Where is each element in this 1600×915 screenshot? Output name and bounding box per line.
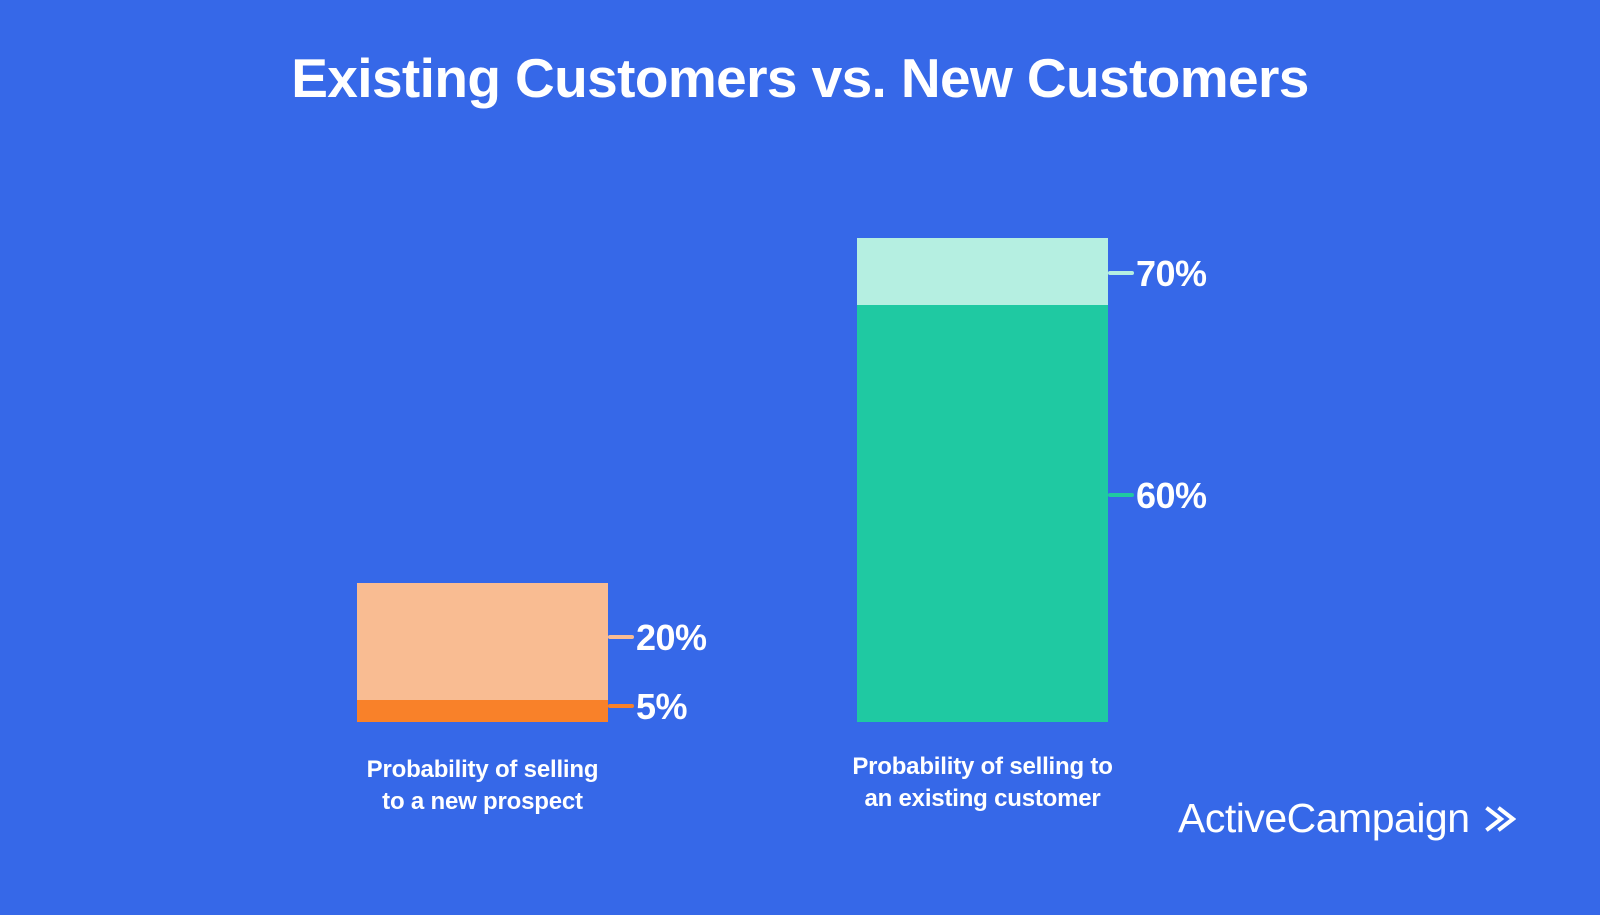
bar-caption-existing-customer-line2: an existing customer xyxy=(822,783,1143,815)
bar-existing-customer[interactable] xyxy=(857,238,1108,722)
bar-caption-existing-customer: Probability of selling to an existing cu… xyxy=(822,751,1143,816)
bar-segment-existing-customer-lower[interactable] xyxy=(857,305,1108,722)
value-label-60-percent: 60% xyxy=(1136,478,1207,514)
infographic-canvas: Existing Customers vs. New Customers 20%… xyxy=(0,0,1600,915)
double-chevron-right-icon xyxy=(1482,802,1516,836)
bar-new-prospect[interactable] xyxy=(357,583,608,722)
leader-line-20-percent xyxy=(608,635,634,639)
chart-plot-area: 20% 5% Probability of selling to a new p… xyxy=(0,0,1600,915)
bar-segment-existing-customer-upper[interactable] xyxy=(857,238,1108,305)
value-label-5-percent: 5% xyxy=(636,689,687,725)
brand-wordmark: ActiveCampaign xyxy=(1178,798,1470,839)
value-label-70-percent: 70% xyxy=(1136,256,1207,292)
leader-line-5-percent xyxy=(608,704,634,708)
bar-segment-new-prospect-upper[interactable] xyxy=(357,583,608,700)
brand-logo[interactable]: ActiveCampaign xyxy=(1178,798,1516,839)
leader-line-70-percent xyxy=(1108,271,1134,275)
bar-caption-new-prospect-line2: to a new prospect xyxy=(332,786,633,818)
bar-caption-new-prospect: Probability of selling to a new prospect xyxy=(332,754,633,819)
bar-caption-new-prospect-line1: Probability of selling xyxy=(332,754,633,786)
bar-caption-existing-customer-line1: Probability of selling to xyxy=(822,751,1143,783)
bar-segment-new-prospect-lower[interactable] xyxy=(357,700,608,722)
value-label-20-percent: 20% xyxy=(636,620,707,656)
leader-line-60-percent xyxy=(1108,493,1134,497)
